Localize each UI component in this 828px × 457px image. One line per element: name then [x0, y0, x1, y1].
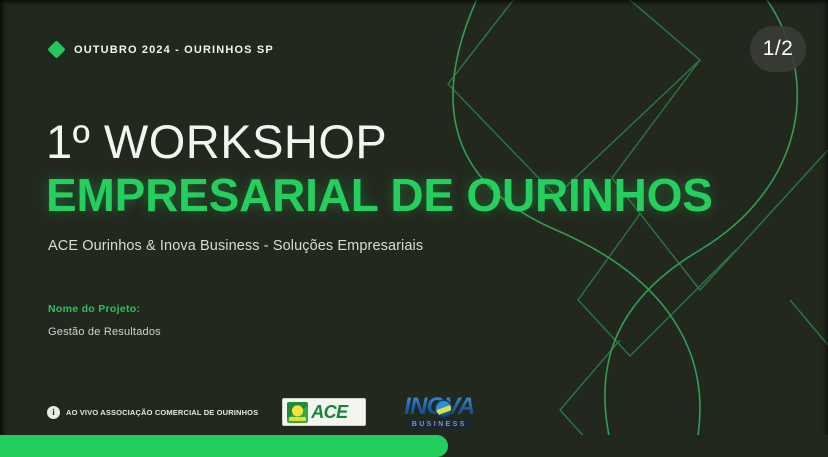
- ace-logo-word: ACE: [311, 403, 347, 421]
- project-block: Nome do Projeto: Gestão de Resultados: [48, 303, 161, 338]
- page-counter-badge[interactable]: 1/2: [750, 26, 806, 72]
- headline-line-1: 1º WORKSHOP: [46, 118, 713, 165]
- info-icon: i: [47, 406, 60, 419]
- edge-vignette: [0, 0, 828, 457]
- progress-fill: [0, 435, 448, 457]
- project-value: Gestão de Resultados: [48, 326, 161, 338]
- live-note: i AO VIVO ASSOCIAÇÃO COMERCIAL DE OURINH…: [47, 406, 258, 419]
- headline-block: 1º WORKSHOP EMPRESARIAL DE OURINHOS: [46, 118, 713, 221]
- eyebrow-label: OUTUBRO 2024 - OURINHOS SP: [74, 44, 274, 56]
- slide-viewer: OUTUBRO 2024 - OURINHOS SP 1º WORKSHOP E…: [0, 0, 828, 457]
- progress-track[interactable]: [0, 435, 828, 457]
- inova-logo: INOVA BUSINESS: [392, 393, 486, 431]
- ace-emblem-icon: [287, 402, 308, 423]
- project-label: Nome do Projeto:: [48, 303, 161, 315]
- diamond-icon: [47, 40, 65, 58]
- inova-logo-sub: BUSINESS: [407, 420, 472, 429]
- subtitle-text: ACE Ourinhos & Inova Business - Soluções…: [48, 238, 423, 254]
- eyebrow-tagline: OUTUBRO 2024 - OURINHOS SP: [50, 43, 274, 56]
- decorative-line-art: [0, 0, 828, 457]
- headline-line-2: EMPRESARIAL DE OURINHOS: [46, 171, 713, 221]
- footer-bar: i AO VIVO ASSOCIAÇÃO COMERCIAL DE OURINH…: [47, 393, 486, 431]
- ace-logo: ACE: [282, 398, 366, 426]
- live-note-label: AO VIVO ASSOCIAÇÃO COMERCIAL DE OURINHOS: [66, 408, 258, 417]
